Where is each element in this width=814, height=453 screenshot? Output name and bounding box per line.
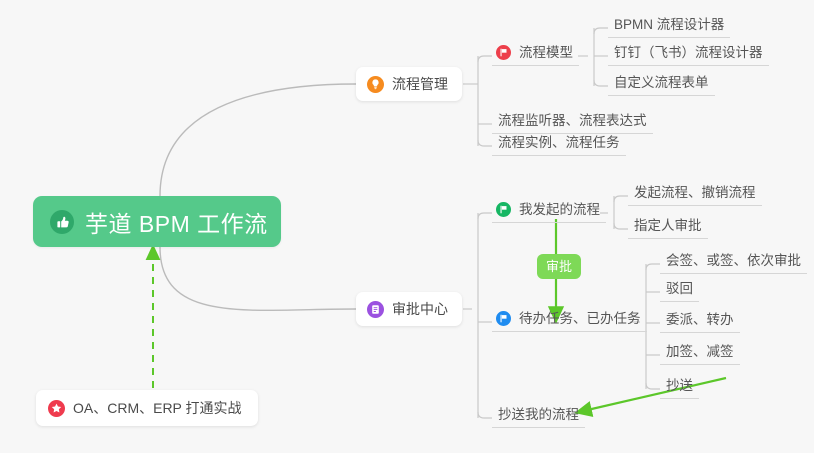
edge-model-corner-bottom	[594, 80, 608, 86]
leaf-label-reject: 驳回	[666, 281, 693, 296]
leaf-label-bpmn-designer: BPMN 流程设计器	[614, 17, 724, 32]
leaf-countersign-or-sign-sequential[interactable]: 会签、或签、依次审批	[660, 252, 807, 274]
edge-mine-corner-top	[614, 196, 628, 202]
leaf-label-cc-to-me-processes: 抄送我的流程	[498, 407, 579, 422]
flag-green-icon	[496, 202, 511, 217]
leaf-label-start-cancel-process: 发起流程、撤销流程	[634, 185, 756, 200]
leaf-label-add-remove-sign: 加签、减签	[666, 344, 734, 359]
edge-model-corner-top	[594, 28, 608, 34]
edge-root-to-approval-center	[160, 247, 356, 310]
star-icon	[48, 400, 65, 417]
edge-ac-corner-top	[478, 213, 492, 219]
leaf-label-countersign-or-sign-sequential: 会签、或签、依次审批	[666, 253, 801, 268]
arrow-cc-to-cc-processes	[583, 378, 726, 411]
branch-label-approval-center: 审批中心	[392, 299, 448, 319]
doc-purple-icon	[367, 301, 384, 318]
branch-node-process-management[interactable]: 流程管理	[356, 67, 462, 101]
leaf-custom-process-form[interactable]: 自定义流程表单	[608, 74, 715, 96]
leaf-reject[interactable]: 驳回	[660, 280, 699, 302]
leaf-cc-to-me-processes[interactable]: 抄送我的流程	[492, 406, 585, 428]
highlight-chip-approve[interactable]: 审批	[537, 254, 581, 279]
thumbs-up-icon	[49, 209, 75, 235]
leaf-label-my-initiated-processes: 我发起的流程	[519, 201, 600, 218]
leaf-label-process-instance-task: 流程实例、流程任务	[498, 135, 620, 150]
highlight-chip-label: 审批	[546, 259, 572, 274]
branch-label-process-management: 流程管理	[392, 74, 448, 94]
leaf-my-initiated-processes[interactable]: 我发起的流程	[492, 201, 606, 223]
mindmap-canvas: 芋道 BPM 工作流 流程管理 审批中心	[0, 0, 814, 453]
leaf-designated-approver[interactable]: 指定人审批	[628, 217, 708, 239]
leaf-todo-done-tasks[interactable]: 待办任务、已办任务	[492, 310, 647, 332]
leaf-label-process-listener-expression: 流程监听器、流程表达式	[498, 113, 647, 128]
leaf-label-custom-process-form: 自定义流程表单	[614, 75, 709, 90]
leaf-process-model[interactable]: 流程模型	[492, 44, 579, 66]
leaf-process-instance-task[interactable]: 流程实例、流程任务	[492, 134, 626, 156]
lightbulb-icon	[367, 76, 384, 93]
edge-pm-corner-bottom	[478, 140, 492, 146]
leaf-label-designated-approver: 指定人审批	[634, 218, 702, 233]
flag-blue-icon	[496, 311, 511, 326]
callout-node-integration[interactable]: OA、CRM、ERP 打通实战	[36, 390, 258, 426]
edge-todo-corner-bottom	[646, 383, 660, 389]
flag-red-icon	[496, 45, 511, 60]
edge-todo-corner-top	[646, 264, 660, 270]
branch-node-approval-center[interactable]: 审批中心	[356, 292, 462, 326]
leaf-label-dingtalk-feishu-designer: 钉钉（飞书）流程设计器	[614, 45, 763, 60]
leaf-label-process-model: 流程模型	[519, 44, 573, 61]
edge-root-to-process-management	[160, 84, 356, 196]
leaf-cc[interactable]: 抄送	[660, 377, 699, 399]
edge-pm-corner-top	[478, 56, 492, 62]
root-node[interactable]: 芋道 BPM 工作流	[33, 196, 281, 247]
leaf-process-listener-expression[interactable]: 流程监听器、流程表达式	[492, 112, 653, 134]
leaf-label-todo-done-tasks: 待办任务、已办任务	[519, 310, 641, 327]
edge-mine-corner-bottom	[614, 223, 628, 229]
callout-label: OA、CRM、ERP 打通实战	[73, 398, 242, 418]
leaf-start-cancel-process[interactable]: 发起流程、撤销流程	[628, 184, 762, 206]
edge-ac-corner-bottom	[478, 412, 492, 418]
leaf-delegate-transfer[interactable]: 委派、转办	[660, 311, 740, 333]
leaf-label-delegate-transfer: 委派、转办	[666, 312, 734, 327]
leaf-bpmn-designer[interactable]: BPMN 流程设计器	[608, 16, 730, 38]
leaf-add-remove-sign[interactable]: 加签、减签	[660, 343, 740, 365]
root-label: 芋道 BPM 工作流	[85, 205, 268, 239]
leaf-label-cc: 抄送	[666, 378, 693, 393]
leaf-dingtalk-feishu-designer[interactable]: 钉钉（飞书）流程设计器	[608, 44, 769, 66]
